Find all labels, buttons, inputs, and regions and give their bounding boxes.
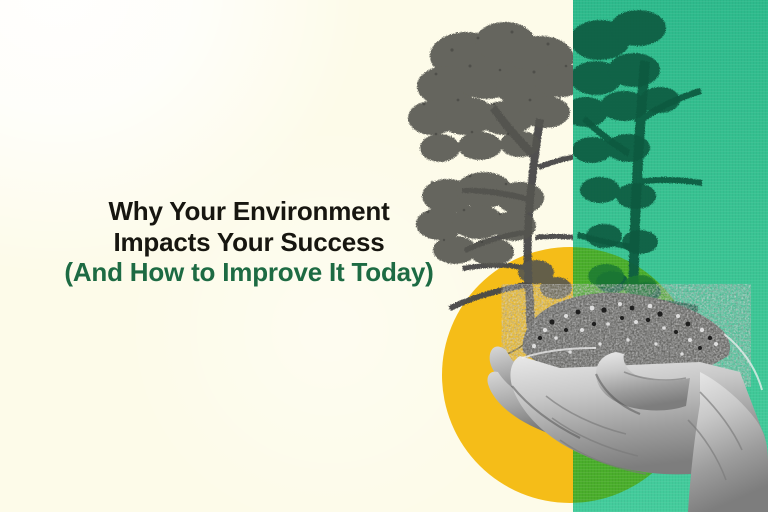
headline-line-3: (And How to Improve It Today) — [34, 257, 464, 288]
page-title: Why Your Environment Impacts Your Succes… — [34, 196, 464, 288]
headline-line-1: Why Your Environment — [34, 196, 464, 227]
circle-green-half — [573, 247, 698, 503]
split-color-circle — [442, 247, 698, 503]
headline-line-2: Impacts Your Success — [34, 227, 464, 258]
hero-banner: Why Your Environment Impacts Your Succes… — [0, 0, 768, 512]
circle-grain-texture — [573, 247, 698, 503]
